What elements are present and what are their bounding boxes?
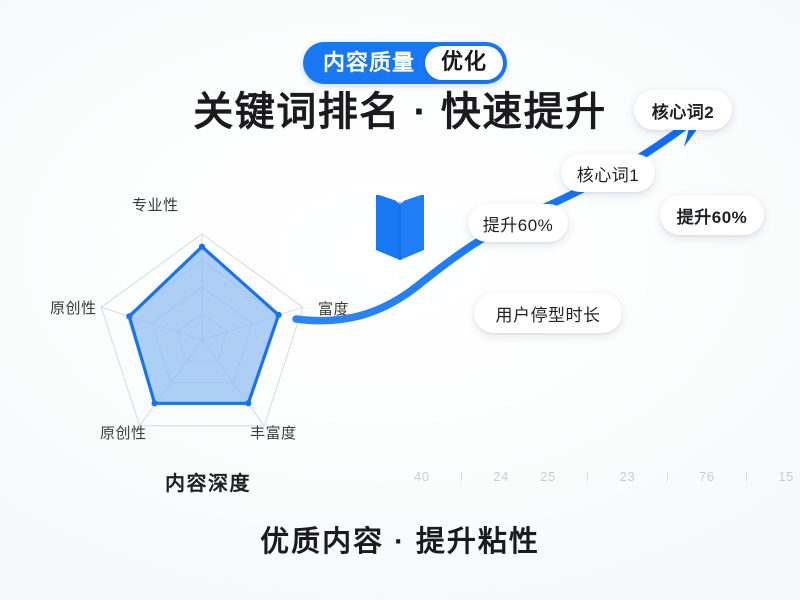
pill-uplift-right[interactable]: 提升60% xyxy=(660,195,764,235)
axis-tick-value: 25 xyxy=(540,469,555,484)
pill-core-keyword-1[interactable]: 核心词1 xyxy=(561,154,655,192)
poster-canvas: 内容质量 优化 关键词排名 · 快速提升 xyxy=(0,0,800,600)
pill-uplift-left[interactable]: 提升60% xyxy=(468,204,568,242)
badge-chip-label: 优化 xyxy=(425,46,503,80)
radar-axis-label-bottom-right: 丰富度 xyxy=(250,422,297,443)
axis-tick-value: 15 xyxy=(778,469,793,484)
axis-tick-row: 40 24 25 23 76 15 xyxy=(414,465,794,487)
quality-badge: 内容质量 优化 xyxy=(303,42,507,84)
axis-tick-mark xyxy=(667,472,668,481)
axis-tick-mark xyxy=(461,472,462,481)
badge-main-label: 内容质量 xyxy=(303,52,425,74)
pill-user-dwell-time[interactable]: 用户停型时长 xyxy=(474,293,622,333)
axis-tick-value: 23 xyxy=(620,469,635,484)
growth-arrow-icon xyxy=(280,95,750,425)
radar-axis-label-top: 专业性 xyxy=(132,194,179,215)
open-book-icon xyxy=(372,186,428,264)
axis-tick-value: 24 xyxy=(493,469,508,484)
axis-tick-mark xyxy=(746,472,747,481)
radar-axis-label-bottom-left: 原创性 xyxy=(100,422,147,443)
radar-axis-label-left: 原创性 xyxy=(50,297,97,318)
axis-tick-value: 40 xyxy=(414,469,429,484)
content-depth-label: 内容深度 xyxy=(165,467,251,496)
axis-tick-value: 76 xyxy=(699,469,714,484)
axis-tick-mark xyxy=(587,472,588,481)
pill-core-keyword-2[interactable]: 核心词2 xyxy=(634,90,732,130)
footer-title: 优质内容 · 提升粘性 xyxy=(0,518,800,560)
